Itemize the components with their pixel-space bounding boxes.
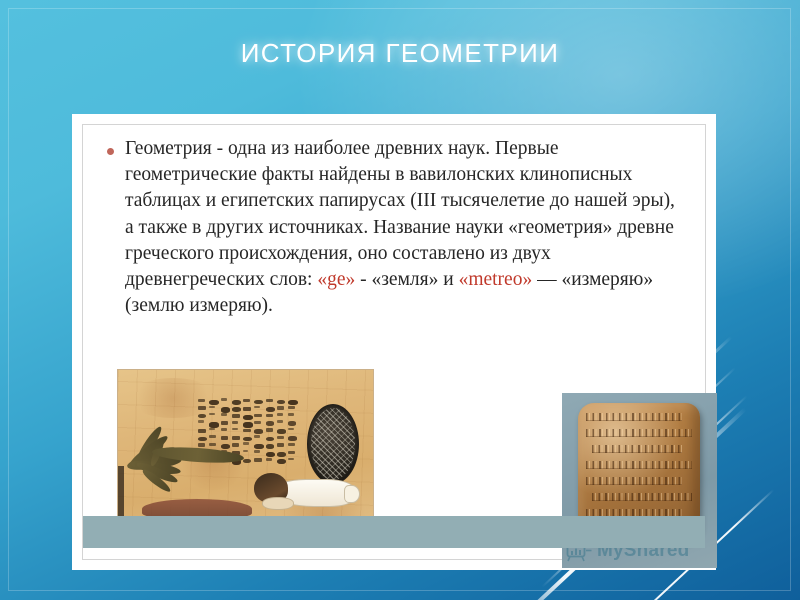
hieroglyph-mark <box>288 421 296 425</box>
hieroglyph-mark <box>198 420 204 422</box>
hieroglyph-mark <box>254 444 263 449</box>
hieroglyph-mark <box>266 399 273 403</box>
hieroglyph-mark <box>266 452 276 457</box>
hieroglyph-mark <box>254 435 260 438</box>
hieroglyph-mark <box>243 442 249 444</box>
hieroglyph-mark <box>277 406 284 409</box>
cuneiform-line <box>586 477 682 485</box>
hieroglyph-mark <box>243 422 253 428</box>
hieroglyph-mark <box>266 428 273 432</box>
hieroglyph-mark <box>266 458 273 461</box>
hieroglyph-mark <box>254 414 261 418</box>
hieroglyph-mark <box>288 443 295 446</box>
hieroglyph-mark <box>232 400 241 405</box>
hieroglyph-mark <box>221 444 230 449</box>
hieroglyph-mark <box>243 437 252 442</box>
hieroglyph-mark <box>243 415 252 420</box>
hieroglyph-mark <box>232 407 241 412</box>
hieroglyph-mark <box>288 458 294 461</box>
cuneiform-line <box>586 461 692 469</box>
hieroglyph-mark <box>243 407 251 411</box>
hieroglyph-mark <box>209 413 215 416</box>
greek-term-metreo: «metreo» <box>459 269 533 290</box>
hieroglyph-mark <box>288 406 295 409</box>
hieroglyph-panel <box>198 398 298 456</box>
hieroglyph-mark <box>209 406 215 408</box>
hieroglyph-mark <box>221 428 227 431</box>
hieroglyph-mark <box>232 428 238 431</box>
text-block: Геометрия - одна из наиболее древних нау… <box>97 136 682 319</box>
hieroglyph-mark <box>277 436 284 439</box>
hieroglyph-mark <box>254 421 261 424</box>
cuneiform-line <box>592 445 682 453</box>
bullet-dot-icon <box>107 148 114 155</box>
hieroglyph-mark <box>198 443 205 446</box>
hieroglyph-mark <box>221 421 229 425</box>
paragraph-part-2: - «земля» и <box>355 269 458 290</box>
hieroglyph-mark <box>277 452 286 457</box>
hieroglyph-mark <box>221 413 227 416</box>
hieroglyph-mark <box>266 414 273 418</box>
hieroglyph-mark <box>277 443 284 447</box>
content-card: Геометрия - одна из наиболее древних нау… <box>72 114 716 570</box>
hieroglyph-mark <box>254 458 261 462</box>
card-bottom-band <box>83 516 705 548</box>
figure-foot <box>344 485 360 503</box>
hieroglyph-mark <box>232 421 239 424</box>
hieroglyph-mark <box>277 429 286 434</box>
cuneiform-line <box>586 429 692 437</box>
hieroglyph-mark <box>288 428 294 431</box>
hieroglyph-mark <box>288 413 294 416</box>
cuneiform-text <box>586 413 692 533</box>
hieroglyph-mark <box>254 406 260 409</box>
hieroglyph-mark <box>232 436 240 440</box>
papyrus-dark-oval <box>307 404 359 484</box>
hieroglyph-mark <box>266 437 275 442</box>
hieroglyph-mark <box>209 428 215 431</box>
hieroglyph-mark <box>277 420 283 423</box>
hieroglyph-mark <box>221 398 227 401</box>
hieroglyph-mark <box>243 429 251 433</box>
hieroglyph-mark <box>198 399 205 402</box>
hieroglyph-mark <box>209 435 215 438</box>
hieroglyph-mark <box>288 436 296 441</box>
hieroglyph-mark <box>277 400 285 405</box>
hieroglyph-mark <box>288 400 298 405</box>
hieroglyph-mark <box>266 407 275 412</box>
hieroglyph-mark <box>254 400 263 405</box>
hieroglyph-mark <box>243 399 250 403</box>
body-paragraph: Геометрия - одна из наиболее древних нау… <box>125 136 682 319</box>
hieroglyph-mark <box>198 414 206 418</box>
slide-title: ИСТОРИЯ ГЕОМЕТРИИ <box>0 38 800 69</box>
hieroglyph-mark <box>209 400 218 405</box>
hieroglyph-mark <box>243 450 248 452</box>
bullet-item: Геометрия - одна из наиболее древних нау… <box>97 136 682 319</box>
hieroglyph-mark <box>277 413 283 416</box>
hieroglyph-mark <box>221 436 229 440</box>
hieroglyph-mark <box>277 459 286 464</box>
hieroglyph-mark <box>254 450 260 453</box>
hieroglyph-mark <box>198 429 206 433</box>
hieroglyph-mark <box>209 443 215 446</box>
paragraph-part-1: Геометрия - одна из наиболее древних нау… <box>125 138 675 290</box>
hieroglyph-mark <box>232 414 240 418</box>
presentation-slide: ИСТОРИЯ ГЕОМЕТРИИ Геометрия - одна из на… <box>0 0 800 600</box>
papyrus-reclining-figure <box>248 473 358 517</box>
hieroglyph-mark <box>266 444 275 449</box>
hieroglyph-mark <box>266 421 274 425</box>
greek-term-ge: «ge» <box>317 269 355 290</box>
hieroglyph-mark <box>254 429 262 434</box>
hieroglyph-mark <box>198 437 207 442</box>
hieroglyph-mark <box>221 407 231 412</box>
hieroglyph-mark <box>243 459 251 463</box>
cuneiform-line <box>592 493 692 501</box>
hieroglyph-mark <box>209 422 219 427</box>
hieroglyph-mark <box>232 443 239 447</box>
cuneiform-line <box>586 413 682 421</box>
hieroglyph-mark <box>288 451 295 455</box>
figure-arm <box>262 497 294 510</box>
hieroglyph-mark <box>198 406 206 410</box>
